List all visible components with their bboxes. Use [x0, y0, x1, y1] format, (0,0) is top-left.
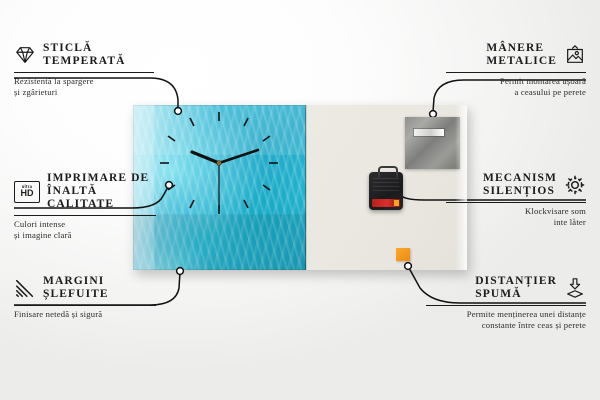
mechanism-hook: [378, 166, 398, 177]
gear-icon: [564, 174, 586, 196]
callout-sub-line1: Klockvisare som: [446, 206, 586, 217]
callout-sub-line2: și zgârieturi: [14, 87, 154, 98]
callout-sub-line2: și imagine clară: [14, 230, 156, 241]
callout-title-row: MECANISM SILENȚIOS: [446, 172, 586, 198]
panel-divider: [305, 105, 307, 270]
callout-title-line1: MÂNERE: [486, 42, 557, 55]
callout-title-line1: STICLĂ: [43, 42, 126, 55]
callout-title-row: MARGINI ȘLEFUITE: [14, 275, 156, 301]
callout-sub-line2: inte låter: [446, 217, 586, 228]
diamond-icon: [14, 44, 36, 66]
callout-title-row: STICLĂ TEMPERATĂ: [14, 42, 154, 68]
callout-title-row: MÂNERE METALICE: [446, 42, 586, 68]
callout-sub-line1: Rezistentă la spargere: [14, 76, 154, 87]
ultra-hd-icon: ultra HD: [14, 181, 40, 203]
callout-rule: [14, 215, 156, 216]
polished-edge-icon: [14, 277, 36, 299]
callout-title-line2: SILENȚIOS: [483, 185, 557, 198]
foam-spacer: [396, 248, 410, 261]
callout-sub-line1: Finisare netedă și sigură: [14, 309, 156, 320]
callout-foam-spacer: DISTANȚIER SPUMĂ Permite menținerea unei…: [426, 275, 586, 331]
callout-sub-line2: a ceasului pe perete: [446, 87, 586, 98]
metal-hanger-plate: [405, 117, 460, 169]
callout-rule: [14, 305, 156, 306]
callout-title-line2: SPUMĂ: [475, 288, 557, 301]
callout-silent-mechanism: MECANISM SILENȚIOS Klockvisare som inte …: [446, 172, 586, 228]
hanger-slot: [414, 129, 444, 136]
callout-title-line2: TEMPERATĂ: [43, 55, 126, 68]
callout-metal-handles: MÂNERE METALICE Permit montarea ușoară a…: [446, 42, 586, 98]
callout-print-quality: ultra HD IMPRIMARE DE ÎNALTĂ CALITATE Cu…: [14, 172, 156, 241]
callout-tempered-glass: STICLĂ TEMPERATĂ Rezistentă la spargere …: [14, 42, 154, 98]
clock-face-panel: [133, 105, 306, 270]
ultra-hd-icon-main: HD: [21, 189, 34, 198]
foam-spacer-icon: [564, 277, 586, 299]
callout-sub-line1: Permite menținerea unei distanțe: [426, 309, 586, 320]
callout-sub-line2: constante între ceas și perete: [426, 320, 586, 331]
callout-rule: [426, 305, 586, 306]
clock-mechanism: [369, 172, 403, 210]
callout-rule: [446, 72, 586, 73]
callout-sub-line1: Permit montarea ușoară: [446, 76, 586, 87]
picture-hanger-icon: [564, 44, 586, 66]
callout-rule: [446, 202, 586, 203]
callout-title-line1: MARGINI: [43, 275, 109, 288]
callout-title-row: ultra HD IMPRIMARE DE ÎNALTĂ CALITATE: [14, 172, 156, 211]
callout-title-line1: IMPRIMARE DE: [47, 172, 156, 185]
callout-rule: [14, 72, 154, 73]
mechanism-label: [373, 178, 399, 194]
battery: [372, 199, 400, 207]
callout-title-line1: MECANISM: [483, 172, 557, 185]
callout-title-line2: METALICE: [486, 55, 557, 68]
callout-title-line2: ȘLEFUITE: [43, 288, 109, 301]
callout-title-line2: ÎNALTĂ CALITATE: [47, 185, 156, 211]
callout-sub-line1: Culori intense: [14, 219, 156, 230]
callout-title-line1: DISTANȚIER: [475, 275, 557, 288]
callout-polished-edges: MARGINI ȘLEFUITE Finisare netedă și sigu…: [14, 275, 156, 320]
callout-title-row: DISTANȚIER SPUMĂ: [426, 275, 586, 301]
infographic-canvas: STICLĂ TEMPERATĂ Rezistentă la spargere …: [0, 0, 600, 400]
